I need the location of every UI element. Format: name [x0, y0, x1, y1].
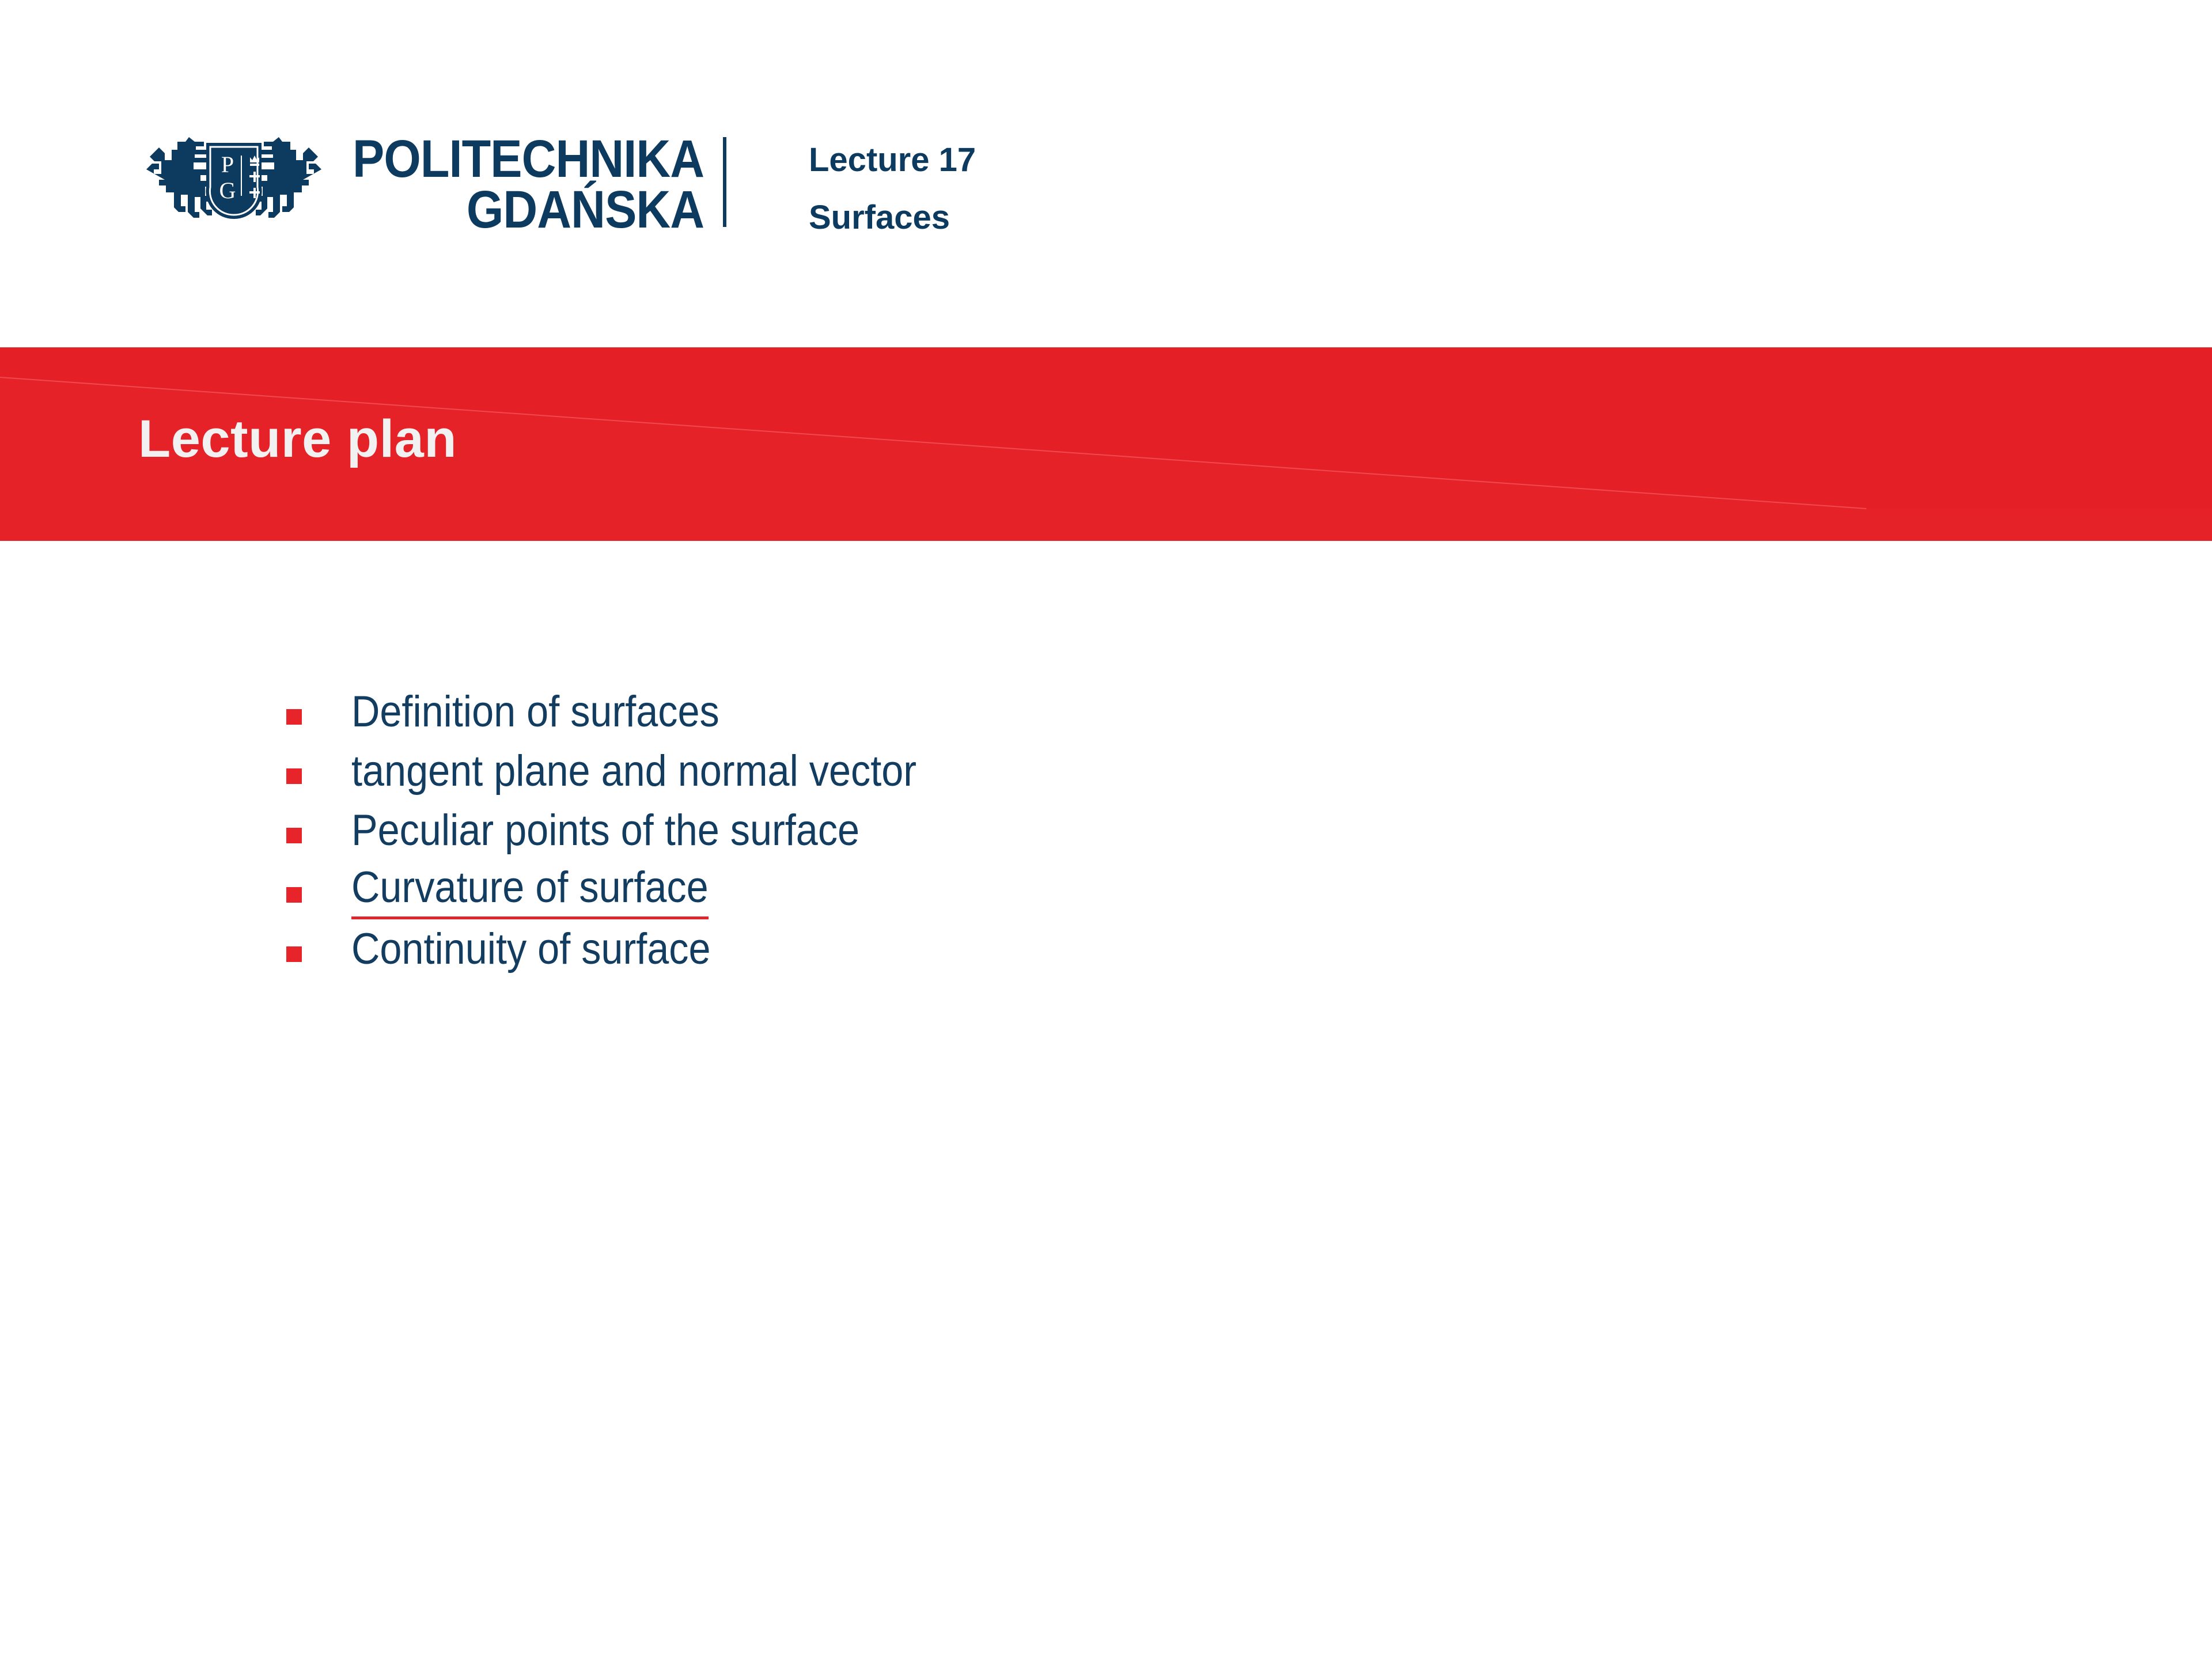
slide-body: Definition of surfaces tangent plane and…: [0, 541, 2212, 1659]
list-item[interactable]: Curvature of surface: [286, 860, 1899, 919]
vertical-divider: [723, 137, 726, 227]
university-brand-lockup: P G POLITECHNIKA GDAŃSKA: [131, 128, 743, 241]
section-title: Lecture plan: [138, 412, 457, 465]
list-item-label: Definition of surfaces: [351, 682, 719, 741]
square-bullet-icon: [286, 887, 302, 903]
list-item-label: tangent plane and normal vector: [351, 741, 916, 801]
shield-letter-g: G: [219, 177, 236, 203]
list-item-link-curvature[interactable]: Curvature of surface: [351, 860, 709, 919]
list-item: tangent plane and normal vector: [286, 741, 1899, 801]
lecture-plan-list: Definition of surfaces tangent plane and…: [286, 682, 1899, 979]
pg-coat-of-arms-logo: P G: [131, 128, 336, 241]
list-item: Definition of surfaces: [286, 682, 1899, 741]
slide: P G POLITECHNIKA GDAŃSKA: [0, 0, 2212, 1659]
list-item-label: Peculiar points of the surface: [351, 801, 859, 860]
lecture-identity: Lecture 17 Surfaces: [809, 131, 976, 247]
wordmark-line-1: POLITECHNIKA: [353, 134, 704, 184]
gdansk-crest-icon: [249, 156, 260, 198]
university-wordmark: POLITECHNIKA GDAŃSKA: [353, 134, 704, 236]
list-item-label: Continuity of surface: [351, 919, 711, 979]
lecture-topic: Surfaces: [809, 189, 976, 247]
square-bullet-icon: [286, 828, 302, 843]
square-bullet-icon: [286, 946, 302, 962]
square-bullet-icon: [286, 709, 302, 725]
lecture-number: Lecture 17: [809, 131, 976, 189]
slide-header: P G POLITECHNIKA GDAŃSKA: [0, 0, 2212, 347]
wordmark-line-2: GDAŃSKA: [353, 184, 704, 235]
list-item: Continuity of surface: [286, 919, 1899, 979]
square-bullet-icon: [286, 768, 302, 784]
shield-letter-p: P: [221, 151, 234, 177]
list-item: Peculiar points of the surface: [286, 801, 1899, 860]
